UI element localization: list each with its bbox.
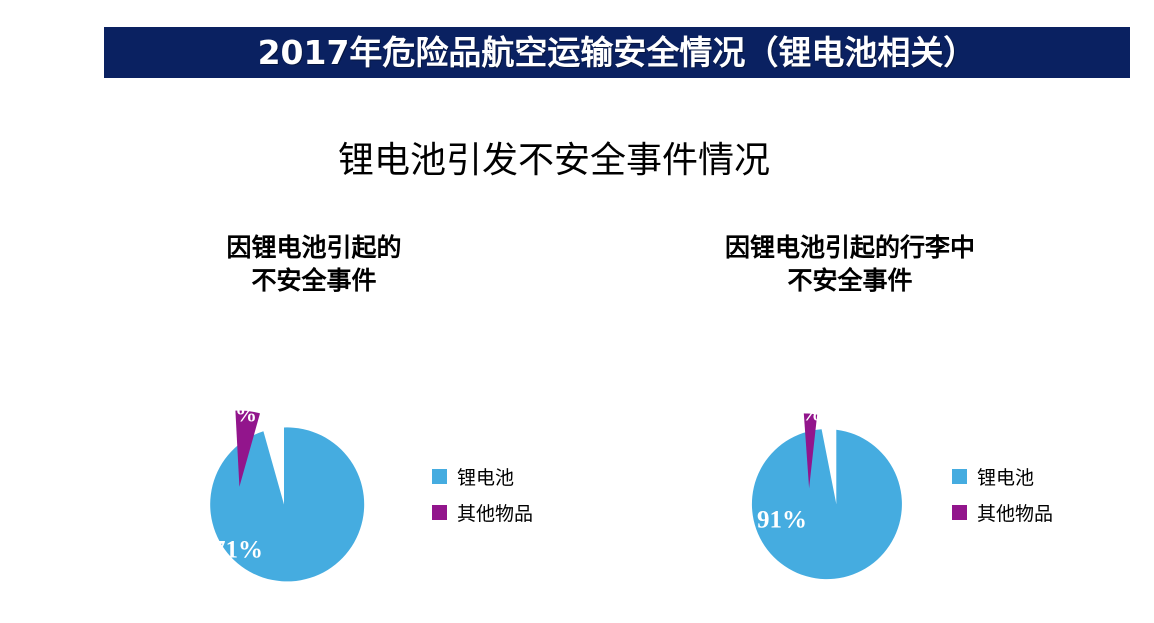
- legend-swatch-lithium-battery-icon: [432, 469, 447, 484]
- pie-chart-left-title: 因锂电池引起的 不安全事件: [164, 232, 464, 298]
- pie-value-label-other-goods: 9%: [790, 401, 823, 426]
- legend-swatch-other-goods-icon: [432, 505, 447, 520]
- pie-chart-right-title: 因锂电池引起的行李中 不安全事件: [680, 232, 1020, 298]
- legend-swatch-other-goods-icon: [952, 505, 967, 520]
- legend-label-other-goods: 其他物品: [977, 499, 1053, 526]
- page-title: 2017年危险品航空运输安全情况（锂电池相关）: [258, 36, 977, 69]
- pie-value-label-other-goods: 29%: [213, 402, 257, 427]
- pie-value-label-lithium-battery: 91%: [757, 507, 807, 534]
- legend-label-other-goods: 其他物品: [457, 499, 533, 526]
- legend-label-lithium-battery: 锂电池: [977, 463, 1034, 490]
- pie-chart-right-svg: 91% 9%: [722, 380, 922, 580]
- legend-item-lithium-battery[interactable]: 锂电池: [432, 458, 533, 494]
- legend-item-other-goods[interactable]: 其他物品: [952, 494, 1053, 530]
- legend-item-lithium-battery[interactable]: 锂电池: [952, 458, 1053, 494]
- title-banner: 2017年危险品航空运输安全情况（锂电池相关）: [104, 27, 1130, 78]
- legend-swatch-lithium-battery-icon: [952, 469, 967, 484]
- legend-item-other-goods[interactable]: 其他物品: [432, 494, 533, 530]
- pie-chart-left: 因锂电池引起的 不安全事件 71% 29% 锂电池 其他物品: [150, 232, 590, 548]
- pie-chart-left-plot-area: 71% 29% 锂电池 其他物品: [150, 298, 590, 548]
- pie-chart-left-svg: 71% 29%: [166, 378, 366, 578]
- pie-chart-right-legend: 锂电池 其他物品: [952, 458, 1053, 530]
- chart-section-subtitle: 锂电池引发不安全事件情况: [0, 140, 1154, 180]
- chart-section-subtitle-text: 锂电池引发不安全事件情况: [338, 140, 770, 180]
- pie-value-label-lithium-battery: 71%: [213, 537, 263, 564]
- pie-chart-right-plot-area: 91% 9% 锂电池 其他物品: [680, 298, 1120, 548]
- pie-slice-lithium-battery[interactable]: [752, 429, 902, 579]
- pie-chart-right: 因锂电池引起的行李中 不安全事件 91% 9% 锂电池 其他物品: [680, 232, 1120, 548]
- pie-chart-left-legend: 锂电池 其他物品: [432, 458, 533, 530]
- legend-label-lithium-battery: 锂电池: [457, 463, 514, 490]
